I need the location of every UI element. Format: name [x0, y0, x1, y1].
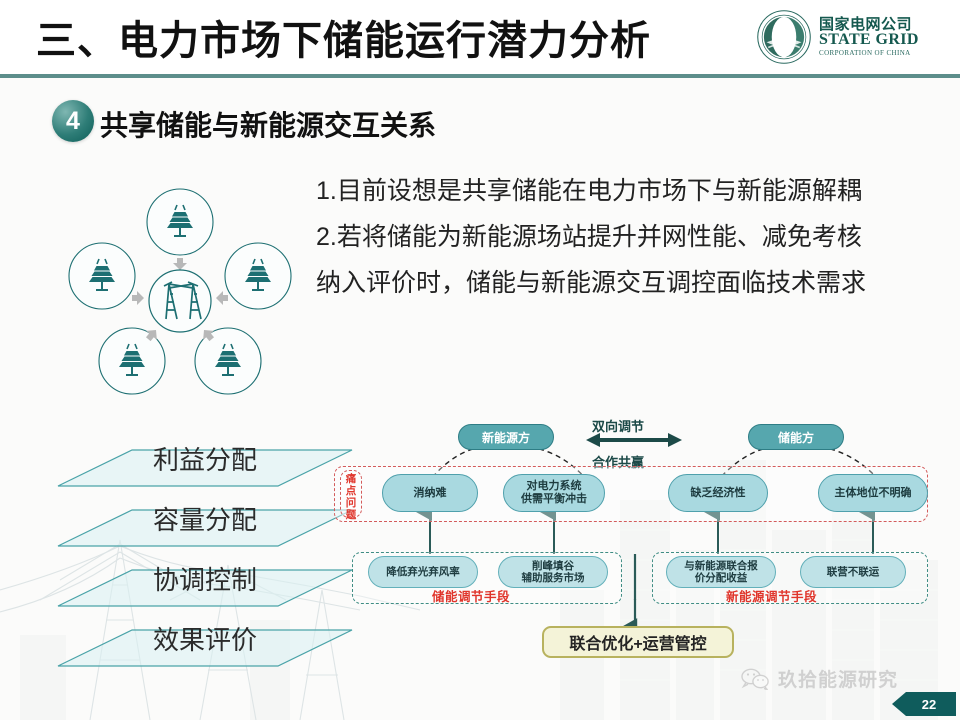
storage-means-item-1[interactable]: 降低弃光弃风率: [368, 556, 478, 588]
final-outcome-box[interactable]: 联合优化+运营管控: [542, 626, 734, 658]
layer-stack-diagram: 利益分配 容量分配 协调控制 效果评价: [50, 424, 360, 678]
body-paragraph-1: 1.目前设想是共享储能在电力市场下与新能源解耦: [316, 168, 876, 214]
storage-means-item-2-text: 削峰填谷 辅助服务市场: [522, 560, 585, 585]
page-title: 三、电力市场下储能运行潜力分析: [36, 8, 651, 66]
hub-arrow-right: [216, 291, 228, 305]
pain-item-3-text: 缺乏经济性: [691, 487, 746, 500]
hub-node-top: [147, 189, 213, 255]
double-headed-arrow-icon: [586, 433, 682, 447]
newenergy-means-label: 新能源调节手段: [726, 586, 817, 605]
pain-item-4[interactable]: 主体地位不明确: [818, 474, 928, 512]
page-number-badge: 22: [892, 692, 956, 716]
pain-item-1-text: 消纳难: [414, 487, 447, 500]
slide-canvas: 三、电力市场下储能运行潜力分析 国家电网公司 STATE GRID CORPOR…: [0, 0, 960, 720]
newenergy-means-item-2-text: 联营不联运: [827, 566, 880, 579]
watermark: 玖拾能源研究: [740, 665, 898, 692]
flow-connectors: [330, 404, 940, 664]
hub-node-left: [69, 243, 135, 309]
logo-english-name: STATE GRID: [819, 32, 919, 48]
logo-chinese-name: 国家电网公司: [819, 17, 919, 32]
hub-arrow-up: [173, 258, 187, 270]
body-paragraph-2: 2.若将储能为新能源场站提升并网性能、减免考核纳入评价时，储能与新能源交互调控面…: [316, 214, 876, 306]
layer-label-2: 容量分配: [50, 500, 360, 537]
bidir-top-label: 双向调节: [592, 416, 644, 435]
storage-means-item-1-text: 降低弃光弃风率: [386, 566, 460, 579]
hub-center-node: [149, 270, 211, 332]
layer-label-1: 利益分配: [50, 440, 360, 477]
pain-item-2-text: 对电力系统 供需平衡冲击: [521, 480, 587, 506]
watermark-text: 玖拾能源研究: [778, 665, 898, 692]
pain-item-3[interactable]: 缺乏经济性: [668, 474, 768, 512]
section-title: 共享储能与新能源交互关系: [100, 104, 436, 144]
hub-node-right: [225, 243, 291, 309]
state-grid-globe-icon: [756, 9, 812, 65]
layer-label-3: 协调控制: [50, 560, 360, 597]
hub-and-spoke-diagram: [60, 178, 300, 398]
interaction-flow-diagram: 新能源方 储能方 双向调节 合作共赢 痛点问题 消纳难 对电力系统 供需平衡冲击…: [330, 404, 940, 664]
slide-header: 三、电力市场下储能运行潜力分析 国家电网公司 STATE GRID CORPOR…: [0, 0, 960, 78]
pain-item-1[interactable]: 消纳难: [382, 474, 478, 512]
newenergy-means-item-1-text: 与新能源联合报 价分配收益: [684, 560, 758, 585]
section-number-badge: 4: [52, 100, 94, 142]
body-text-block: 1.目前设想是共享储能在电力市场下与新能源解耦 2.若将储能为新能源场站提升并网…: [316, 168, 876, 306]
storage-means-label: 储能调节手段: [432, 586, 510, 605]
state-grid-logo: 国家电网公司 STATE GRID CORPORATION OF CHINA: [756, 6, 946, 68]
header-divider: [0, 74, 960, 78]
wechat-icon: [740, 668, 770, 690]
logo-subtitle: CORPORATION OF CHINA: [819, 50, 919, 57]
hub-arrow-left: [132, 291, 144, 305]
newenergy-means-item-1[interactable]: 与新能源联合报 价分配收益: [666, 556, 776, 588]
storage-means-item-2[interactable]: 削峰填谷 辅助服务市场: [498, 556, 608, 588]
actor-pill-new-energy[interactable]: 新能源方: [458, 424, 554, 450]
pain-point-vertical-label: 痛点问题: [344, 473, 358, 521]
pain-item-4-text: 主体地位不明确: [835, 487, 912, 500]
layer-label-4: 效果评价: [50, 620, 360, 657]
actor-pill-storage[interactable]: 储能方: [748, 424, 844, 450]
newenergy-means-item-2[interactable]: 联营不联运: [800, 556, 906, 588]
pain-item-2[interactable]: 对电力系统 供需平衡冲击: [503, 474, 605, 512]
